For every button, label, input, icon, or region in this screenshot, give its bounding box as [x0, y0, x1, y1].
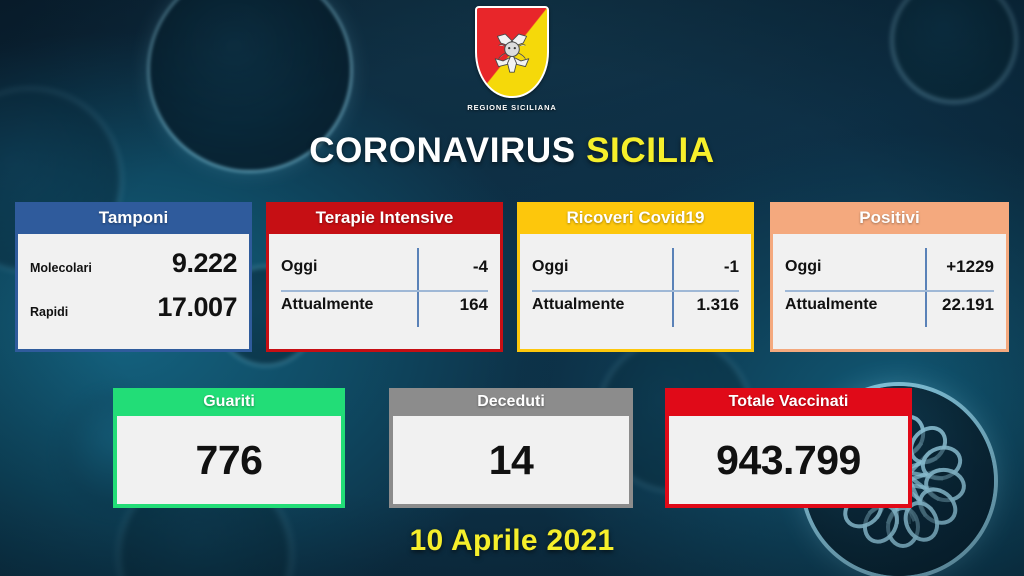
- card-title: Deceduti: [389, 388, 633, 416]
- stat-label: Attualmente: [532, 296, 624, 314]
- trinacria-icon: [484, 24, 540, 80]
- stat-card-guariti: Guariti 776: [113, 388, 345, 508]
- card-title: Terapie Intensive: [266, 202, 503, 234]
- stat-row: Oggi -1: [532, 248, 739, 286]
- title-main: CORONAVIRUS: [309, 131, 576, 170]
- card-title: Guariti: [113, 388, 345, 416]
- card-divider-vertical: [417, 248, 419, 327]
- stat-value: 164: [460, 295, 488, 315]
- card-body: Oggi +1229 Attualmente 22.191: [770, 234, 1009, 352]
- stat-row: Rapidi 17.007: [30, 292, 237, 336]
- emblem-label: REGIONE SICILIANA: [465, 103, 559, 112]
- card-body: 776: [113, 416, 345, 508]
- report-date: 10 Aprile 2021: [0, 524, 1024, 558]
- stat-label: Attualmente: [785, 296, 877, 314]
- page-title: CORONAVIRUS SICILIA: [0, 133, 1024, 168]
- card-body: Oggi -1 Attualmente 1.316: [517, 234, 754, 352]
- stat-label: Oggi: [281, 258, 317, 276]
- card-body: 943.799: [665, 416, 912, 508]
- stat-label: Molecolari: [30, 261, 92, 275]
- stat-row: Attualmente 22.191: [785, 286, 994, 324]
- title-accent: SICILIA: [586, 131, 715, 170]
- trinacria-shield-icon: [475, 6, 549, 98]
- stat-row: Oggi +1229: [785, 248, 994, 286]
- stat-value: +1229: [946, 257, 994, 277]
- card-divider-vertical: [925, 248, 927, 327]
- stat-value: 776: [196, 440, 263, 481]
- stat-value: 943.799: [716, 440, 861, 481]
- card-body: 14: [389, 416, 633, 508]
- regional-emblem: REGIONE SICILIANA: [465, 6, 559, 124]
- card-divider-horizontal: [281, 290, 488, 292]
- stat-card-totale-vaccinati: Totale Vaccinati 943.799: [665, 388, 912, 508]
- stat-row: Attualmente 164: [281, 286, 488, 324]
- stat-card-terapie-intensive: Terapie Intensive Oggi -4 Attualmente 16…: [266, 202, 503, 352]
- stat-label: Rapidi: [30, 305, 68, 319]
- stat-label: Attualmente: [281, 296, 373, 314]
- card-title: Tamponi: [15, 202, 252, 234]
- stat-value: 14: [489, 440, 534, 481]
- stat-row: Attualmente 1.316: [532, 286, 739, 324]
- stat-card-ricoveri-covid19: Ricoveri Covid19 Oggi -1 Attualmente 1.3…: [517, 202, 754, 352]
- stat-value: -4: [473, 257, 488, 277]
- stat-value: 22.191: [942, 295, 994, 315]
- stat-row: Oggi -4: [281, 248, 488, 286]
- card-title: Ricoveri Covid19: [517, 202, 754, 234]
- stat-value: 1.316: [696, 295, 739, 315]
- stat-label: Oggi: [785, 258, 821, 276]
- stat-card-deceduti: Deceduti 14: [389, 388, 633, 508]
- card-divider-vertical: [672, 248, 674, 327]
- card-divider-horizontal: [785, 290, 994, 292]
- card-title: Positivi: [770, 202, 1009, 234]
- card-title: Totale Vaccinati: [665, 388, 912, 416]
- card-body: Oggi -4 Attualmente 164: [266, 234, 503, 352]
- stat-value: -1: [724, 257, 739, 277]
- stat-label: Oggi: [532, 258, 568, 276]
- stat-value: 17.007: [157, 292, 237, 323]
- stat-row: Molecolari 9.222: [30, 248, 237, 292]
- stat-card-tamponi: Tamponi Molecolari 9.222 Rapidi 17.007: [15, 202, 252, 352]
- stat-value: 9.222: [172, 248, 237, 279]
- stat-card-positivi: Positivi Oggi +1229 Attualmente 22.191: [770, 202, 1009, 352]
- card-divider-horizontal: [532, 290, 739, 292]
- card-body: Molecolari 9.222 Rapidi 17.007: [15, 234, 252, 352]
